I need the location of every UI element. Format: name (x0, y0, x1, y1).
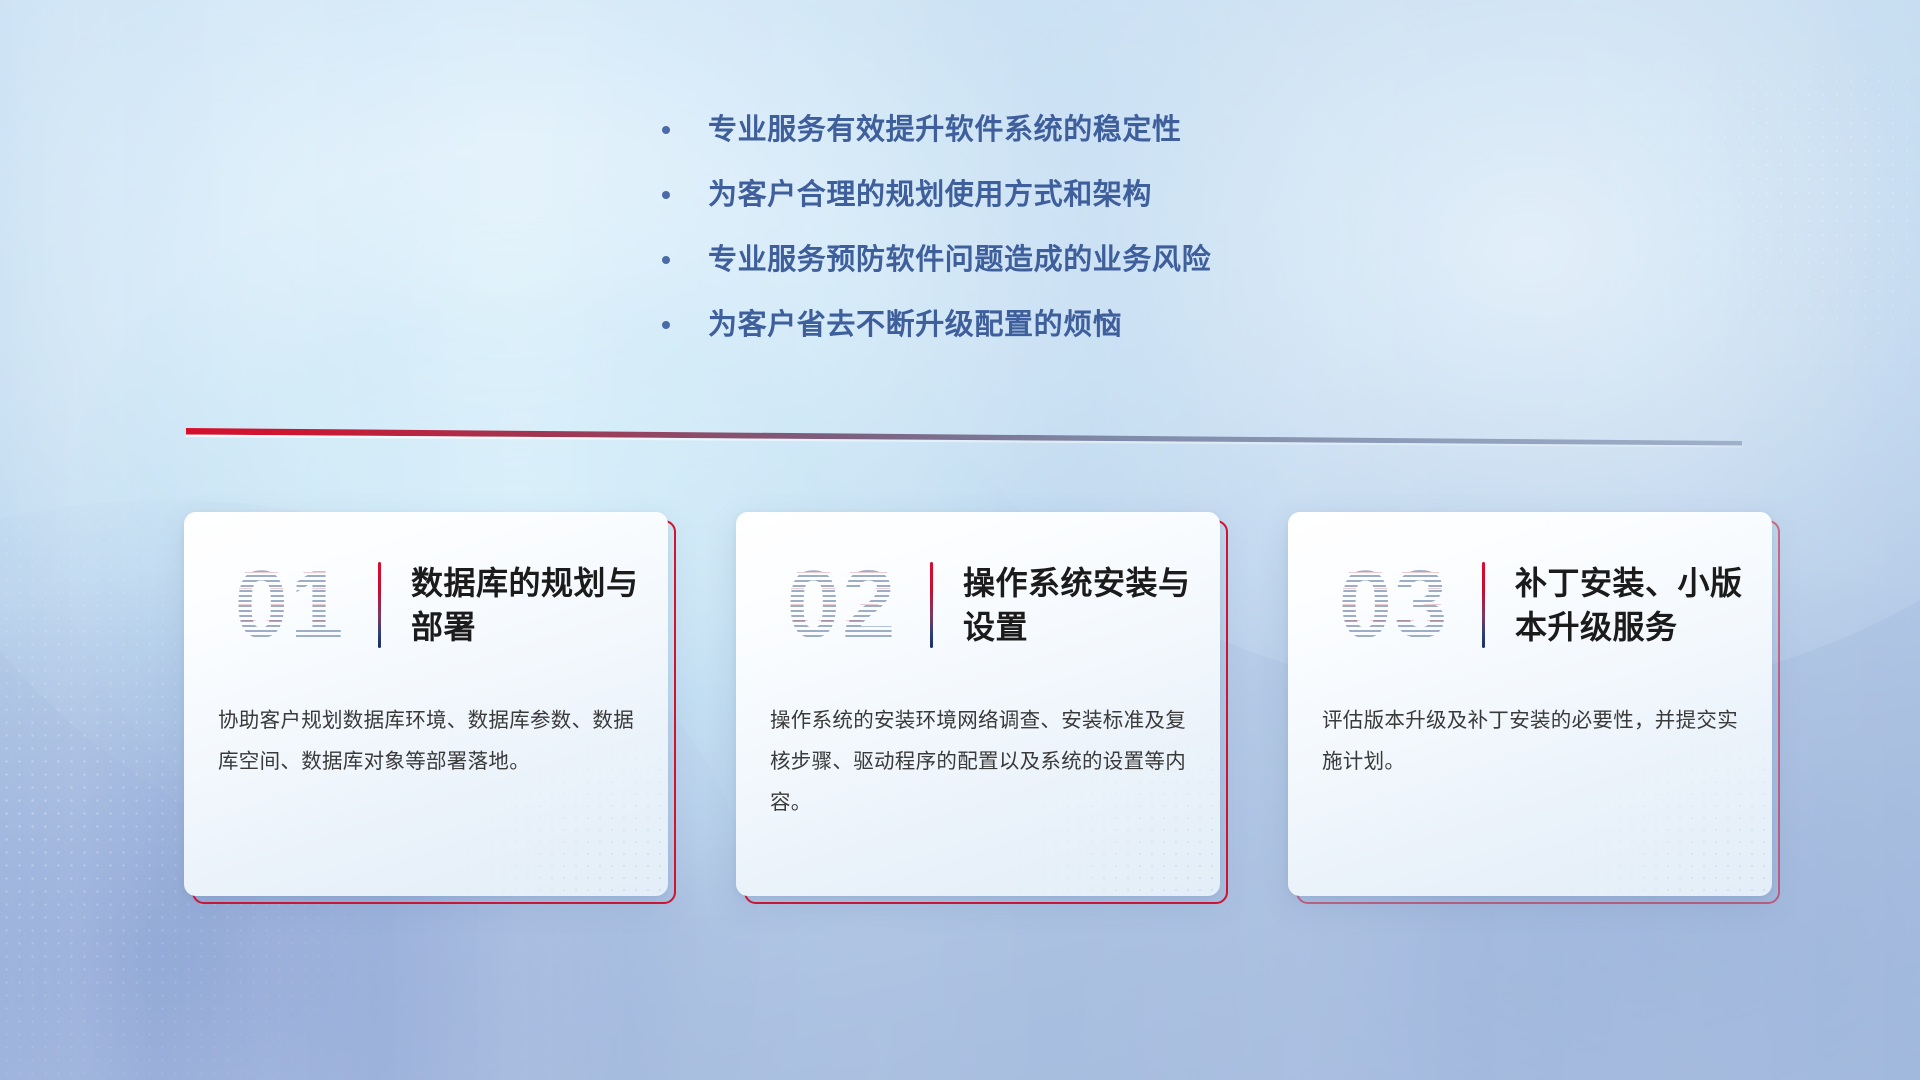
card-title: 补丁安装、小版本升级服务 (1515, 561, 1772, 649)
divider-shape (186, 426, 1742, 452)
card-body-text: 协助客户规划数据库环境、数据库参数、数据库空间、数据库对象等部署落地。 (218, 700, 638, 782)
list-item: 专业服务预防软件问题造成的业务风险 (662, 238, 1422, 303)
card-body-text: 评估版本升级及补丁安装的必要性，并提交实施计划。 (1322, 700, 1742, 782)
card-surface: 01 01 数据库的规划与部署 协助客户规划数据库环境、数据库参数、数据库空间、… (184, 512, 668, 896)
card-header: 02 02 操作系统安装与设置 (736, 540, 1220, 670)
service-card-row: 01 01 数据库的规划与部署 协助客户规划数据库环境、数据库参数、数据库空间、… (184, 512, 1784, 922)
bullet-dot-icon (662, 321, 670, 329)
bullet-text: 专业服务预防软件问题造成的业务风险 (708, 238, 1211, 282)
background-dot-texture-right (1480, 60, 1920, 480)
card-body-text: 操作系统的安装环境网络调查、安装标准及复核步骤、驱动程序的配置以及系统的设置等内… (770, 700, 1190, 823)
card-accent-bar (1482, 562, 1485, 648)
bullet-dot-icon (662, 126, 670, 134)
card-header: 01 01 数据库的规划与部署 (184, 540, 668, 670)
bullet-dot-icon (662, 256, 670, 264)
card-surface: 03 03 补丁安装、小版本升级服务 评估版本升级及补丁安装的必要性，并提交实施… (1288, 512, 1772, 896)
card-surface: 02 02 操作系统安装与设置 操作系统的安装环境网络调查、安装标准及复核步骤、… (736, 512, 1220, 896)
service-card-02[interactable]: 02 02 操作系统安装与设置 操作系统的安装环境网络调查、安装标准及复核步骤、… (736, 512, 1228, 904)
service-card-03[interactable]: 03 03 补丁安装、小版本升级服务 评估版本升级及补丁安装的必要性，并提交实施… (1288, 512, 1780, 904)
card-title: 操作系统安装与设置 (963, 561, 1220, 649)
list-item: 专业服务有效提升软件系统的稳定性 (662, 108, 1422, 173)
list-item: 为客户合理的规划使用方式和架构 (662, 173, 1422, 238)
card-header: 03 03 补丁安装、小版本升级服务 (1288, 540, 1772, 670)
card-number-watermark: 03 (1310, 545, 1478, 665)
service-card-01[interactable]: 01 01 数据库的规划与部署 协助客户规划数据库环境、数据库参数、数据库空间、… (184, 512, 676, 904)
bullet-dot-icon (662, 191, 670, 199)
section-divider (186, 426, 1742, 452)
card-title: 数据库的规划与部署 (411, 561, 668, 649)
benefits-bullet-list: 专业服务有效提升软件系统的稳定性 为客户合理的规划使用方式和架构 专业服务预防软… (662, 108, 1422, 368)
card-number-watermark: 02 (758, 545, 926, 665)
bullet-text: 专业服务有效提升软件系统的稳定性 (708, 108, 1182, 152)
card-accent-bar (930, 562, 933, 648)
bullet-text: 为客户合理的规划使用方式和架构 (708, 173, 1152, 217)
bullet-text: 为客户省去不断升级配置的烦恼 (708, 303, 1122, 347)
list-item: 为客户省去不断升级配置的烦恼 (662, 303, 1422, 368)
card-number-watermark: 01 (206, 545, 374, 665)
card-accent-bar (378, 562, 381, 648)
